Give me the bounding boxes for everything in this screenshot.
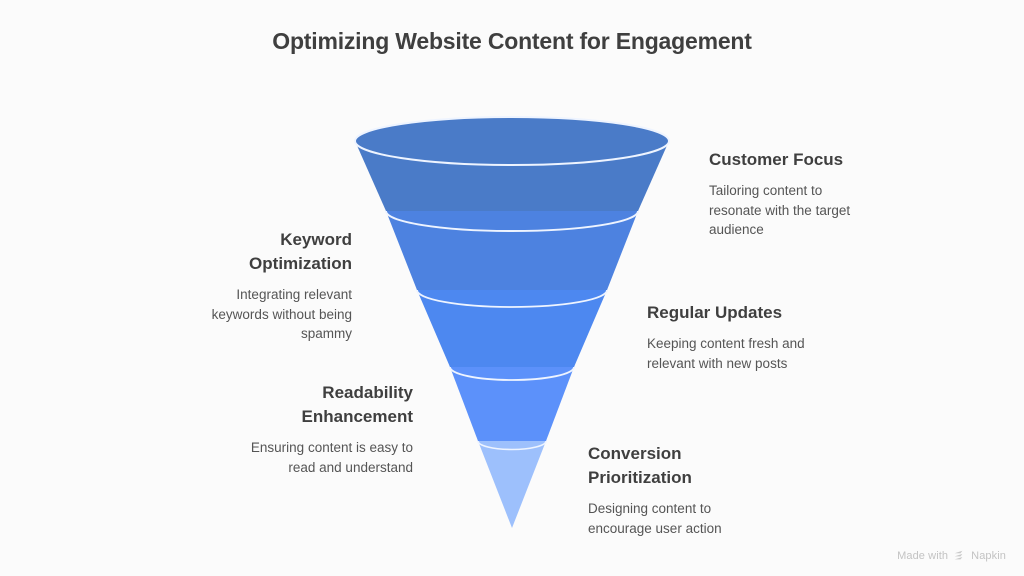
funnel-label-keyword-optimization: Keyword Optimization Integrating relevan… — [185, 228, 352, 344]
funnel-label-description: Tailoring content to resonate with the t… — [709, 181, 939, 240]
funnel-segment-conversion-prioritization[interactable] — [478, 433, 546, 529]
funnel-label-title: Conversion Prioritization — [588, 442, 798, 490]
funnel-label-description: Designing content to encourage user acti… — [588, 499, 798, 538]
funnel-segment-readability-enhancement[interactable] — [450, 354, 574, 441]
funnel-label-description: Keeping content fresh and relevant with … — [647, 334, 877, 373]
funnel-label-description: Ensuring content is easy to read and und… — [222, 438, 413, 477]
funnel-label-description: Integrating relevant keywords without be… — [185, 285, 352, 344]
funnel-label-readability-enhancement: Readability Enhancement Ensuring content… — [222, 381, 413, 477]
funnel-label-regular-updates: Regular Updates Keeping content fresh an… — [647, 301, 877, 373]
funnel-label-customer-focus: Customer Focus Tailoring content to reso… — [709, 148, 939, 240]
funnel-label-title: Keyword Optimization — [185, 228, 352, 276]
page-title: Optimizing Website Content for Engagemen… — [0, 28, 1024, 55]
watermark-prefix: Made with — [897, 550, 948, 562]
napkin-logo-icon — [953, 549, 966, 562]
funnel-label-conversion-prioritization: Conversion Prioritization Designing cont… — [588, 442, 798, 538]
funnel-segment-customer-focus[interactable] — [355, 117, 669, 211]
funnel-label-title: Readability Enhancement — [222, 381, 413, 429]
watermark-brand: Napkin — [971, 550, 1006, 562]
napkin-watermark: Made with Napkin — [897, 549, 1006, 562]
funnel-chart — [0, 0, 1024, 576]
funnel-label-title: Customer Focus — [709, 148, 939, 172]
funnel-label-title: Regular Updates — [647, 301, 877, 325]
